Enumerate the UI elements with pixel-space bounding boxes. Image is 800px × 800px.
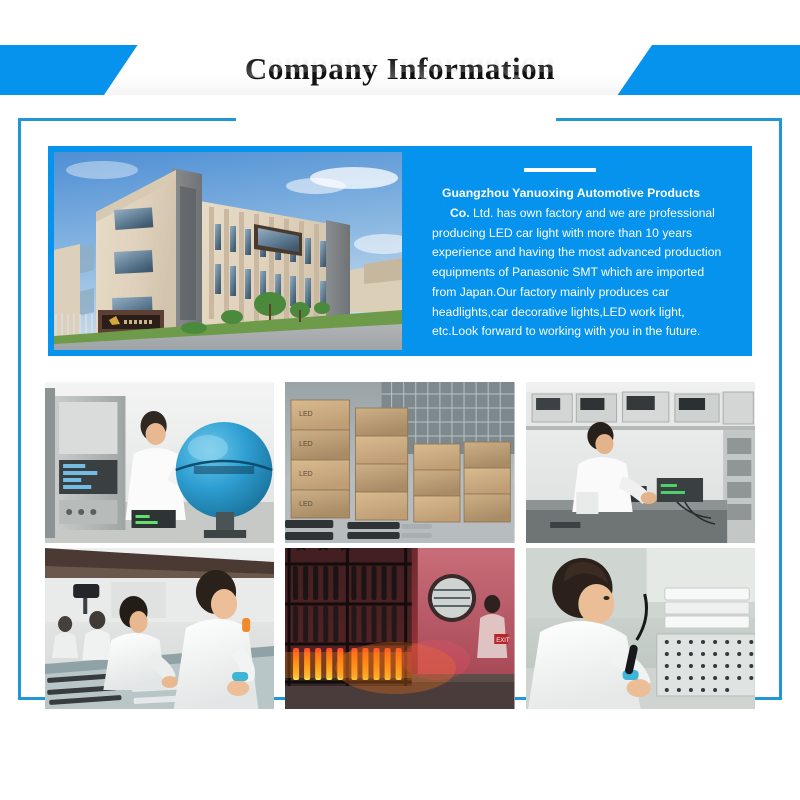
page-title-reflection-host: Company Information Company Information: [245, 53, 555, 84]
frame-top-left-segment: [18, 118, 236, 121]
gallery-item-packed-led-cartons: LEDLED LEDLED: [285, 382, 514, 543]
photo-electronics-test-bench: [526, 382, 755, 543]
photo-testing-lab-sphere: [45, 382, 274, 543]
frame-top-right-segment: [556, 118, 782, 121]
svg-text:LED: LED: [299, 471, 313, 478]
photo-aging-test-rack: EXIT: [285, 548, 514, 709]
banner-title-wrap: Company Information Company Information …: [0, 45, 800, 95]
company-suffix: Co.: [432, 206, 470, 220]
frame-left-edge: [18, 118, 21, 700]
photo-packed-led-cartons: LEDLED LEDLED: [285, 382, 514, 543]
gallery-item-qc-inspection: [526, 548, 755, 709]
page-title-reflection: Company Information: [245, 53, 555, 84]
factory-building-illustration: [54, 152, 402, 350]
company-information-page: Company Information Company Information …: [0, 0, 800, 800]
company-description-panel: Guangzhou Yanuoxing Automotive Products …: [408, 146, 752, 356]
factory-building-photo: [54, 152, 402, 350]
gallery-item-assembly-line-workers: [45, 548, 274, 709]
photo-qc-inspection: [526, 548, 755, 709]
factory-photo-gallery: LEDLED LEDLED: [45, 382, 755, 709]
gallery-item-electronics-test-bench: [526, 382, 755, 543]
factory-building-photo-frame: [48, 146, 408, 356]
svg-text:LED: LED: [299, 501, 313, 508]
photo-assembly-line-workers: [45, 548, 274, 709]
gallery-item-aging-test-rack: EXIT: [285, 548, 514, 709]
company-name-line: Guangzhou Yanuoxing Automotive Products: [432, 184, 730, 204]
frame-right-edge: [779, 118, 782, 700]
svg-text:EXIT: EXIT: [497, 638, 511, 644]
feature-block: Guangzhou Yanuoxing Automotive Products …: [48, 146, 752, 356]
gallery-item-testing-lab-sphere: [45, 382, 274, 543]
svg-text:LED: LED: [299, 411, 313, 418]
accent-dash: [524, 168, 596, 172]
company-body-text: Ltd. has own factory and we are professi…: [432, 206, 721, 339]
company-description-text: Guangzhou Yanuoxing Automotive Products …: [432, 184, 730, 342]
svg-text:LED: LED: [299, 441, 313, 448]
header-banner: Company Information Company Information …: [0, 45, 800, 95]
